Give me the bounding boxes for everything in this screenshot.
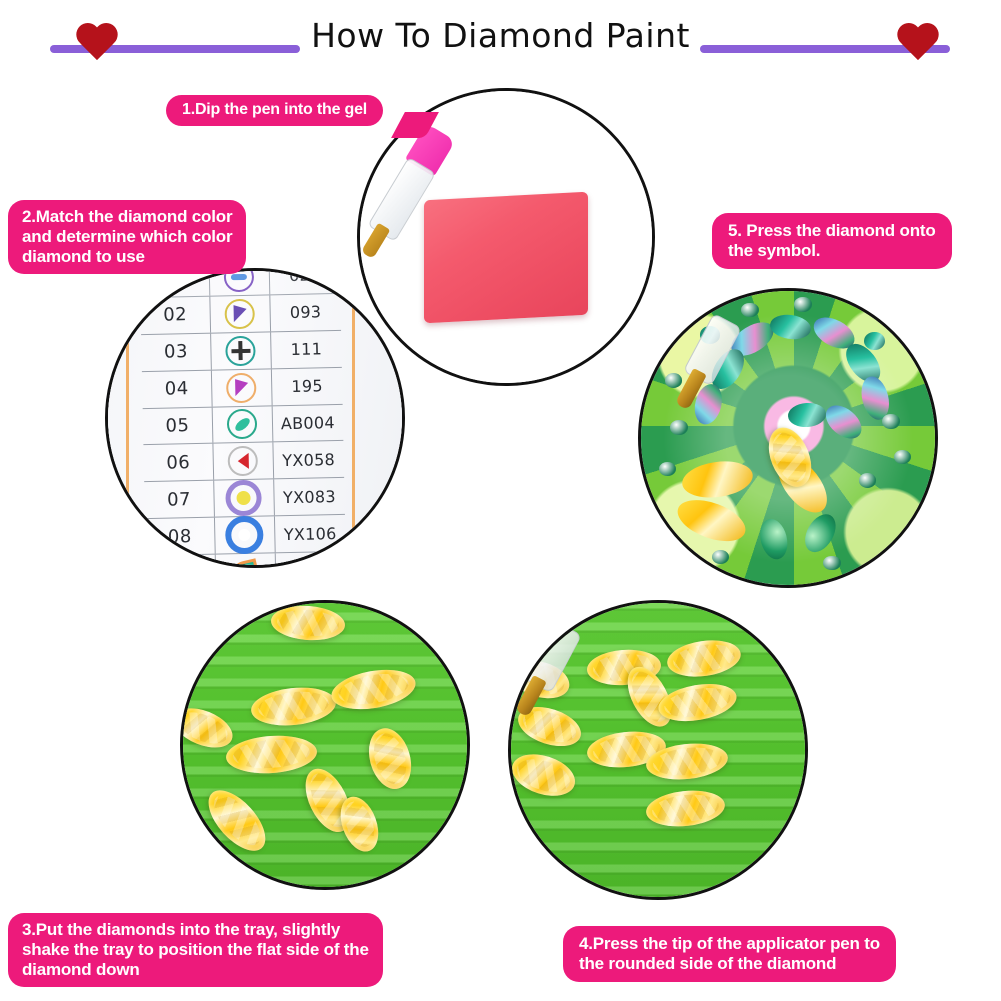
mandala-gem bbox=[670, 420, 688, 435]
symbol-glyph bbox=[232, 349, 251, 353]
step-3-label-line-1: 3.Put the diamonds into the tray, slight… bbox=[22, 920, 369, 940]
symbol-glyph bbox=[235, 379, 248, 396]
chart-left-edge bbox=[126, 271, 129, 565]
legend-row-symbol bbox=[216, 554, 277, 568]
mandala-gem bbox=[859, 473, 877, 488]
legend-row-number: 08 bbox=[145, 518, 216, 555]
legend-row: 02093 bbox=[141, 294, 342, 335]
legend-row-symbol bbox=[213, 406, 274, 443]
legend-row-number: 06 bbox=[144, 444, 215, 481]
legend-row-number: 04 bbox=[142, 371, 213, 408]
mandala-gem bbox=[659, 462, 677, 477]
step-5-photo-diamond-on-canvas bbox=[638, 288, 938, 588]
step-3-label-line-2: shake the tray to position the flat side… bbox=[22, 940, 369, 960]
pen-metal-tip bbox=[361, 223, 391, 259]
legend-row-code: YX106 bbox=[275, 515, 346, 552]
step-1-label-line-1: 1.Dip the pen into the gel bbox=[182, 101, 367, 120]
legend-row-symbol bbox=[211, 296, 272, 333]
legend-row: 09YX125 bbox=[146, 552, 347, 568]
symbol-glyph bbox=[238, 453, 249, 469]
mandala-gem bbox=[882, 414, 900, 429]
legend-row-code: YX125 bbox=[276, 552, 347, 568]
step-5-label: 5. Press the diamond onto the symbol. bbox=[712, 213, 952, 269]
leaf-eye-icon bbox=[233, 559, 260, 568]
legend-row-code: 093 bbox=[271, 294, 342, 331]
page-title: How To Diamond Paint bbox=[0, 16, 1001, 55]
legend-row: 08YX106 bbox=[145, 515, 346, 556]
left-arrow-chevron-icon bbox=[228, 446, 259, 477]
step-5-label-line-1: 5. Press the diamond onto bbox=[728, 221, 936, 241]
mandala-gem bbox=[794, 297, 812, 312]
slanted-oval-icon bbox=[227, 409, 258, 440]
symbol-glyph bbox=[233, 416, 252, 434]
symbol-glyph bbox=[232, 274, 248, 280]
step-4-label: 4.Press the tip of the applicator pen to… bbox=[563, 926, 896, 982]
step-4-label-line-1: 4.Press the tip of the applicator pen to bbox=[579, 934, 880, 954]
mandala-gem bbox=[712, 550, 730, 565]
legend-row-code: AB004 bbox=[273, 405, 344, 442]
color-legend-table: 02802093031110419505AB00406YX05807YX0830… bbox=[140, 268, 347, 568]
legend-row-symbol bbox=[215, 517, 276, 554]
legend-row-code: 028 bbox=[270, 268, 341, 295]
symbol-glyph bbox=[231, 559, 261, 568]
step-2-label-line-1: 2.Match the diamond color bbox=[22, 207, 232, 227]
legend-row-code: YX083 bbox=[274, 478, 345, 515]
legend-row-number: 02 bbox=[141, 297, 212, 334]
symbol-glyph bbox=[237, 491, 251, 505]
symbol-glyph bbox=[239, 529, 251, 541]
legend-row-symbol bbox=[214, 443, 275, 480]
mandala-gem bbox=[823, 556, 841, 571]
gel-square bbox=[424, 192, 588, 323]
step-3-photo-diamonds-in-tray bbox=[180, 600, 470, 890]
legend-row-symbol bbox=[214, 480, 275, 517]
open-ring-icon bbox=[226, 516, 265, 555]
legend-row-code: YX058 bbox=[274, 442, 345, 479]
mandala-gem bbox=[894, 450, 912, 465]
chart-right-edge bbox=[352, 271, 355, 565]
legend-row-number: 09 bbox=[146, 555, 217, 568]
step-2-label: 2.Match the diamond color and determine … bbox=[8, 200, 246, 274]
step-4-photo-pen-on-diamond bbox=[508, 600, 808, 900]
symbol-glyph bbox=[234, 305, 247, 322]
step-4-label-line-2: the rounded side of the diamond bbox=[579, 954, 880, 974]
legend-row-number: 03 bbox=[141, 334, 212, 371]
legend-row: 05AB004 bbox=[143, 405, 344, 446]
step-1-label: 1.Dip the pen into the gel bbox=[166, 95, 383, 126]
step-3-label: 3.Put the diamonds into the tray, slight… bbox=[8, 913, 383, 987]
legend-row-symbol bbox=[211, 332, 272, 369]
step-2-label-line-2: and determine which color bbox=[22, 227, 232, 247]
step-5-label-line-2: the symbol. bbox=[728, 241, 936, 261]
photo-background: 02802093031110419505AB00406YX05807YX0830… bbox=[108, 271, 402, 565]
header: How To Diamond Paint bbox=[0, 0, 1001, 80]
legend-row-number: 05 bbox=[143, 407, 214, 444]
legend-row-symbol bbox=[212, 369, 273, 406]
step-2-photo-legend-chart: 02802093031110419505AB00406YX05807YX0830… bbox=[105, 268, 405, 568]
mandala-gem bbox=[741, 303, 759, 318]
legend-row: 03111 bbox=[141, 331, 342, 372]
filled-dot-icon bbox=[226, 480, 263, 517]
plus-cross-icon bbox=[226, 336, 257, 367]
legend-row: 04195 bbox=[142, 368, 343, 409]
step-2-label-line-3: diamond to use bbox=[22, 247, 232, 267]
legend-row-number: 07 bbox=[144, 481, 215, 518]
mandala-gem bbox=[864, 332, 885, 350]
triangle-wedge-icon bbox=[225, 299, 256, 330]
infographic-canvas: How To Diamond Paint 1.Dip the pen into … bbox=[0, 0, 1001, 1001]
legend-row: 07YX083 bbox=[144, 478, 345, 519]
legend-row: 06YX058 bbox=[144, 442, 345, 483]
step-3-label-line-3: diamond down bbox=[22, 960, 369, 980]
legend-row-code: 195 bbox=[272, 368, 343, 405]
legend-row-code: 111 bbox=[271, 331, 342, 368]
triangle-wedge-icon bbox=[227, 373, 258, 404]
